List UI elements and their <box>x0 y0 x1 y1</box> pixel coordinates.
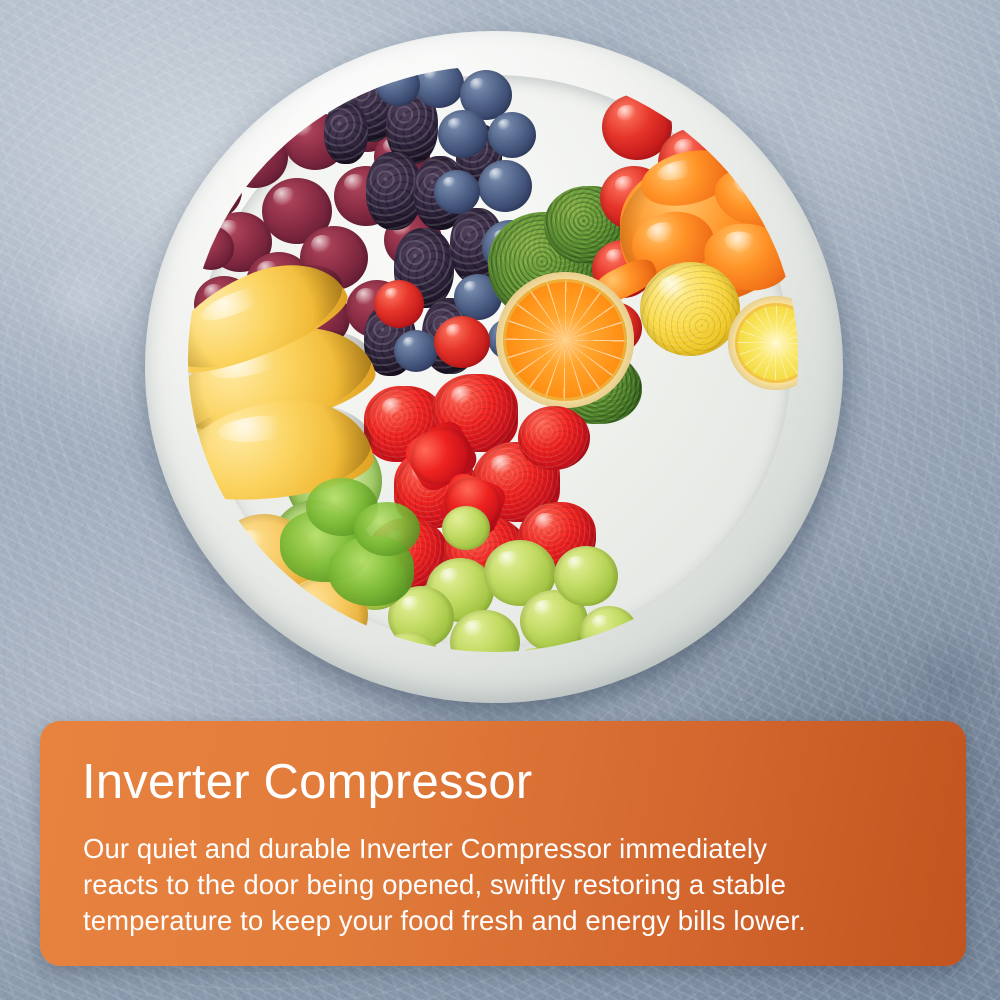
feature-card-scene: Inverter Compressor Our quiet and durabl… <box>0 0 1000 1000</box>
card-title: Inverter Compressor <box>82 753 532 811</box>
produce-orange-half <box>496 272 634 408</box>
feature-info-card: Inverter Compressor Our quiet and durabl… <box>40 721 966 966</box>
produce-arrangement <box>188 66 798 652</box>
card-body-line-1: Our quiet and durable Inverter Compresso… <box>83 831 926 867</box>
card-body-line-3: temperature to keep your food fresh and … <box>83 903 926 939</box>
card-body-line-2: reacts to the door being opened, swiftly… <box>83 867 926 903</box>
card-body: Our quiet and durable Inverter Compresso… <box>83 831 926 939</box>
